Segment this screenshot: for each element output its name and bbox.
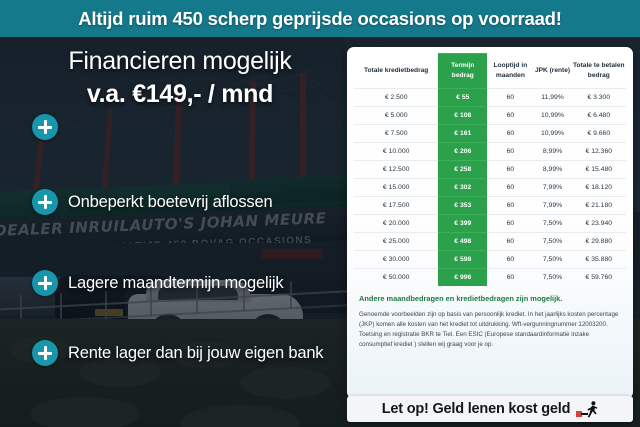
table-cell: 7,50% <box>534 251 572 269</box>
table-header-cell: Looptijd in maanden <box>487 54 533 89</box>
table-cell: € 10.000 <box>354 143 438 161</box>
rates-card: Totale kredietbedrag Termijn bedrag Loop… <box>347 47 633 399</box>
table-cell: € 29.880 <box>572 233 626 251</box>
table-cell: 8,99% <box>534 143 572 161</box>
table-cell: 60 <box>487 269 533 287</box>
table-header-cell: Termijn bedrag <box>438 54 487 89</box>
table-cell: 60 <box>487 233 533 251</box>
table-cell: € 353 <box>438 197 487 215</box>
table-cell: 60 <box>487 89 533 107</box>
table-header-row: Totale kredietbedrag Termijn bedrag Loop… <box>354 54 626 89</box>
rates-table: Totale kredietbedrag Termijn bedrag Loop… <box>354 53 626 286</box>
promo-bullet-label: Lagere maandtermijn mogelijk <box>68 274 283 293</box>
table-cell: 60 <box>487 125 533 143</box>
table-row: € 17.500€ 353607,99%€ 21.180 <box>354 197 626 215</box>
table-cell: € 2.500 <box>354 89 438 107</box>
table-cell: € 30.000 <box>354 251 438 269</box>
promo-bullet-label: Rente lager dan bij jouw eigen bank <box>68 344 323 363</box>
table-header-cell: Totale kredietbedrag <box>354 54 438 89</box>
loan-warning-text: Let op! Geld lenen kost geld <box>382 401 571 417</box>
table-cell: € 17.500 <box>354 197 438 215</box>
top-banner-text: Altijd ruim 450 scherp geprijsde occasio… <box>78 8 562 30</box>
table-cell: 7,50% <box>534 233 572 251</box>
table-cell: € 25.000 <box>354 233 438 251</box>
table-cell: 60 <box>487 251 533 269</box>
plus-circle-icon <box>32 270 58 296</box>
disclaimer-heading: Andere maandbedragen en kredietbedragen … <box>359 294 621 304</box>
promo-headline: Financieren mogelijk v.a. €149,- / mnd <box>22 47 338 109</box>
table-row: € 12.500€ 258608,99%€ 15.480 <box>354 161 626 179</box>
top-banner: Altijd ruim 450 scherp geprijsde occasio… <box>0 0 640 37</box>
table-cell: € 12.360 <box>572 143 626 161</box>
table-cell: € 598 <box>438 251 487 269</box>
table-cell: 60 <box>487 179 533 197</box>
table-cell: 11,99% <box>534 89 572 107</box>
table-row: € 30.000€ 598607,50%€ 35.880 <box>354 251 626 269</box>
table-cell: € 55 <box>438 89 487 107</box>
ball-and-chain-runner-icon <box>576 400 598 418</box>
table-cell: 10,99% <box>534 125 572 143</box>
table-cell: 7,99% <box>534 197 572 215</box>
table-cell: € 161 <box>438 125 487 143</box>
table-cell: € 3.300 <box>572 89 626 107</box>
table-cell: € 206 <box>438 143 487 161</box>
table-cell: € 6.480 <box>572 107 626 125</box>
table-cell: € 9.660 <box>572 125 626 143</box>
table-cell: 10,99% <box>534 107 572 125</box>
plus-circle-icon <box>32 114 58 140</box>
table-row: € 20.000€ 399607,50%€ 23.940 <box>354 215 626 233</box>
table-cell: € 59.760 <box>572 269 626 287</box>
table-row: € 15.000€ 302607,99%€ 18.120 <box>354 179 626 197</box>
loan-warning-bar: Let op! Geld lenen kost geld <box>347 396 633 422</box>
advertisement-banner: DEALER INRUILAUTO'S JOHAN MEURE ALTIJD 4… <box>0 0 640 427</box>
promo-headline-line1: Financieren mogelijk <box>22 47 338 76</box>
table-cell: 7,50% <box>534 269 572 287</box>
table-cell: 60 <box>487 215 533 233</box>
table-cell: € 5.000 <box>354 107 438 125</box>
table-row: € 50.000€ 996607,50%€ 59.760 <box>354 269 626 287</box>
table-cell: € 23.940 <box>572 215 626 233</box>
table-cell: € 15.480 <box>572 161 626 179</box>
table-cell: € 18.120 <box>572 179 626 197</box>
table-cell: € 12.500 <box>354 161 438 179</box>
table-cell: 60 <box>487 197 533 215</box>
table-cell: € 108 <box>438 107 487 125</box>
table-cell: 60 <box>487 161 533 179</box>
table-cell: € 7.500 <box>354 125 438 143</box>
table-cell: 60 <box>487 107 533 125</box>
table-row: € 10.000€ 206608,99%€ 12.360 <box>354 143 626 161</box>
table-cell: 60 <box>487 143 533 161</box>
table-row: € 2.500€ 556011,99%€ 3.300 <box>354 89 626 107</box>
table-header-cell: JPK (rente) <box>534 54 572 89</box>
table-cell: € 15.000 <box>354 179 438 197</box>
promo-headline-line2: v.a. €149,- / mnd <box>22 80 338 109</box>
table-cell: € 20.000 <box>354 215 438 233</box>
table-cell: € 302 <box>438 179 487 197</box>
table-row: € 25.000€ 498607,50%€ 29.880 <box>354 233 626 251</box>
table-cell: € 996 <box>438 269 487 287</box>
plus-circle-icon <box>32 189 58 215</box>
table-cell: 7,50% <box>534 215 572 233</box>
promo-bullet-1: Onbeperkt boetevrij aflossen <box>32 189 272 215</box>
table-row: € 7.500€ 1616010,99%€ 9.660 <box>354 125 626 143</box>
promo-bullet-3: Rente lager dan bij jouw eigen bank <box>32 340 323 366</box>
rates-table-body: € 2.500€ 556011,99%€ 3.300€ 5.000€ 10860… <box>354 89 626 287</box>
promo-bullet-2: Lagere maandtermijn mogelijk <box>32 270 283 296</box>
table-header-cell: Totale te betalen bedrag <box>572 54 626 89</box>
table-cell: € 258 <box>438 161 487 179</box>
table-row: € 5.000€ 1086010,99%€ 6.480 <box>354 107 626 125</box>
table-cell: 8,99% <box>534 161 572 179</box>
promo-list: Financieren mogelijk v.a. €149,- / mnd O… <box>0 37 345 427</box>
table-cell: € 498 <box>438 233 487 251</box>
table-cell: 7,99% <box>534 179 572 197</box>
promo-bullet-label: Onbeperkt boetevrij aflossen <box>68 193 272 212</box>
table-cell: € 35.880 <box>572 251 626 269</box>
table-cell: € 50.000 <box>354 269 438 287</box>
table-cell: € 21.180 <box>572 197 626 215</box>
plus-circle-icon <box>32 340 58 366</box>
table-cell: € 399 <box>438 215 487 233</box>
disclaimer-body: Genoemde voorbeelden zijn op basis van p… <box>359 310 621 350</box>
